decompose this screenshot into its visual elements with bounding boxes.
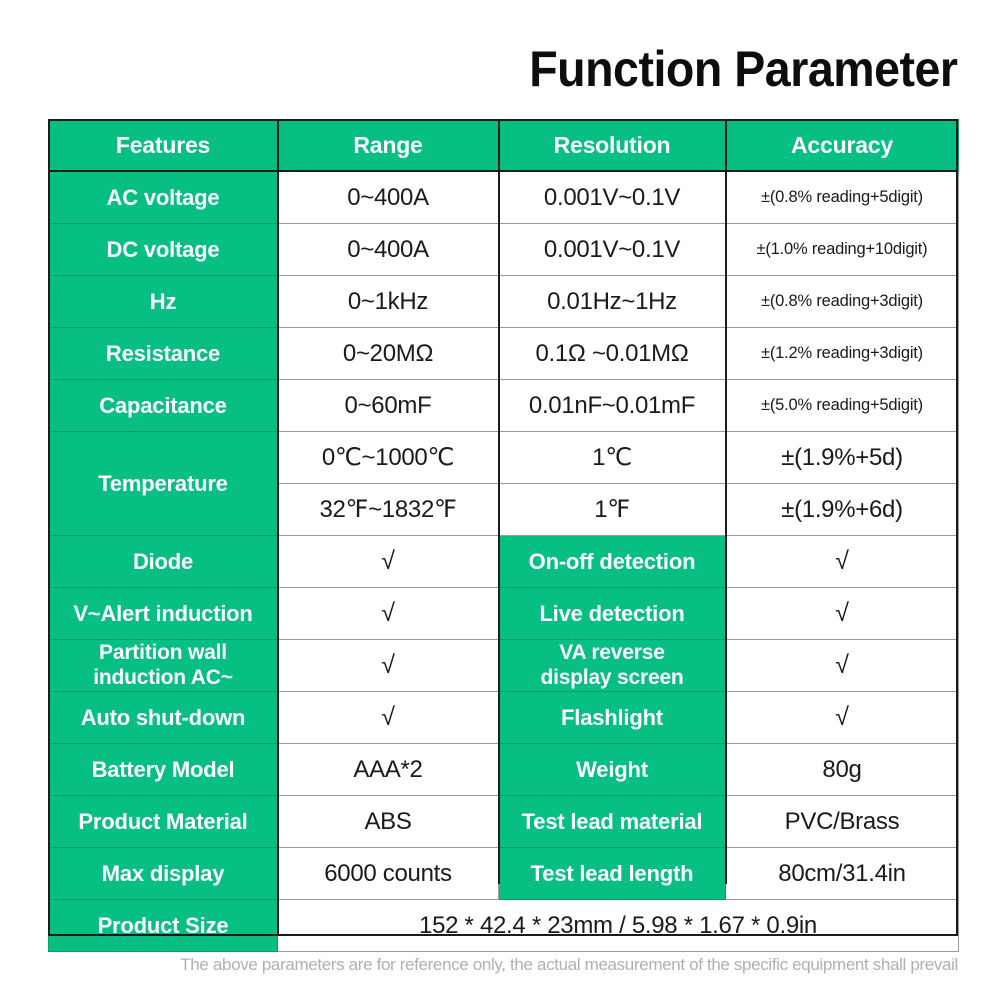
column-header-resolution: Resolution	[499, 120, 726, 172]
cell-accuracy-capacitance: ±(5.0% reading+5digit)	[726, 380, 959, 432]
table-row: Max display 6000 counts Test lead length…	[49, 848, 959, 900]
cell-value-product-material: ABS	[278, 796, 499, 848]
cell-value-on-off-detection: √	[726, 536, 959, 588]
table-row: Hz 0~1kHz 0.01Hz~1Hz ±(0.8% reading+3dig…	[49, 276, 959, 328]
column-header-accuracy: Accuracy	[726, 120, 959, 172]
cell-resolution-ac-voltage: 0.001V~0.1V	[499, 172, 726, 224]
row-label-battery-model: Battery Model	[49, 744, 278, 796]
row-label-flashlight: Flashlight	[499, 692, 726, 744]
row-label-test-lead-length: Test lead length	[499, 848, 726, 900]
table-row: V~Alert induction √ Live detection √	[49, 588, 959, 640]
page-title-container: Function Parameter	[0, 44, 958, 94]
row-label-weight: Weight	[499, 744, 726, 796]
table-row: Product Material ABS Test lead material …	[49, 796, 959, 848]
function-parameter-spec-sheet: Function Parameter Features Range Resolu…	[0, 0, 1000, 1000]
table-row: Diode √ On-off detection √	[49, 536, 959, 588]
cell-value-live-detection: √	[726, 588, 959, 640]
cell-accuracy-hz: ±(0.8% reading+3digit)	[726, 276, 959, 328]
cell-value-product-size: 152 * 42.4 * 23mm / 5.98 * 1.67 * 0.9in	[278, 900, 959, 952]
table-row: Partition wall induction AC~ √ VA revers…	[49, 640, 959, 692]
cell-accuracy-temperature-fahrenheit: ±(1.9%+6d)	[726, 484, 959, 536]
table-row: Capacitance 0~60mF 0.01nF~0.01mF ±(5.0% …	[49, 380, 959, 432]
row-label-temperature: Temperature	[49, 432, 278, 536]
cell-range-temperature-celsius: 0℃~1000℃	[278, 432, 499, 484]
row-label-diode: Diode	[49, 536, 278, 588]
cell-value-diode: √	[278, 536, 499, 588]
cell-range-hz: 0~1kHz	[278, 276, 499, 328]
row-label-resistance: Resistance	[49, 328, 278, 380]
cell-resolution-temperature-fahrenheit: 1℉	[499, 484, 726, 536]
cell-value-auto-shut-down: √	[278, 692, 499, 744]
table-row: AC voltage 0~400A 0.001V~0.1V ±(0.8% rea…	[49, 172, 959, 224]
specification-table: Features Range Resolution Accuracy AC vo…	[48, 119, 959, 952]
row-label-hz: Hz	[49, 276, 278, 328]
cell-accuracy-ac-voltage: ±(0.8% reading+5digit)	[726, 172, 959, 224]
row-label-v-alert-induction: V~Alert induction	[49, 588, 278, 640]
cell-resolution-dc-voltage: 0.001V~0.1V	[499, 224, 726, 276]
cell-value-flashlight: √	[726, 692, 959, 744]
cell-value-battery-model: AAA*2	[278, 744, 499, 796]
row-label-live-detection: Live detection	[499, 588, 726, 640]
cell-resolution-capacitance: 0.01nF~0.01mF	[499, 380, 726, 432]
column-header-range: Range	[278, 120, 499, 172]
row-label-on-off-detection: On-off detection	[499, 536, 726, 588]
cell-value-test-lead-length: 80cm/31.4in	[726, 848, 959, 900]
row-label-partition-wall-line1: Partition wall	[49, 641, 277, 666]
row-label-auto-shut-down: Auto shut-down	[49, 692, 278, 744]
cell-resolution-resistance: 0.1Ω ~0.01MΩ	[499, 328, 726, 380]
column-header-features: Features	[49, 120, 278, 172]
row-label-product-size: Product Size	[49, 900, 278, 952]
table-row-product-size: Product Size 152 * 42.4 * 23mm / 5.98 * …	[49, 900, 959, 952]
row-label-capacitance: Capacitance	[49, 380, 278, 432]
table-row-temperature-celsius: Temperature 0℃~1000℃ 1℃ ±(1.9%+5d)	[49, 432, 959, 484]
page-title: Function Parameter	[530, 44, 958, 94]
row-label-partition-wall-line2: induction AC~	[49, 666, 277, 691]
cell-value-weight: 80g	[726, 744, 959, 796]
cell-accuracy-dc-voltage: ±(1.0% reading+10digit)	[726, 224, 959, 276]
row-label-va-reverse-line2: display screen	[499, 666, 725, 691]
footnote-disclaimer: The above parameters are for reference o…	[0, 955, 958, 975]
cell-value-partition-wall-induction: √	[278, 640, 499, 692]
table-header-row: Features Range Resolution Accuracy	[49, 120, 959, 172]
cell-accuracy-resistance: ±(1.2% reading+3digit)	[726, 328, 959, 380]
row-label-dc-voltage: DC voltage	[49, 224, 278, 276]
cell-resolution-temperature-celsius: 1℃	[499, 432, 726, 484]
row-label-va-reverse-display-screen: VA reverse display screen	[499, 640, 726, 692]
cell-value-max-display: 6000 counts	[278, 848, 499, 900]
cell-value-test-lead-material: PVC/Brass	[726, 796, 959, 848]
row-label-product-material: Product Material	[49, 796, 278, 848]
cell-value-v-alert-induction: √	[278, 588, 499, 640]
row-label-max-display: Max display	[49, 848, 278, 900]
cell-range-dc-voltage: 0~400A	[278, 224, 499, 276]
table-row: DC voltage 0~400A 0.001V~0.1V ±(1.0% rea…	[49, 224, 959, 276]
cell-range-capacitance: 0~60mF	[278, 380, 499, 432]
table-row: Resistance 0~20MΩ 0.1Ω ~0.01MΩ ±(1.2% re…	[49, 328, 959, 380]
cell-range-ac-voltage: 0~400A	[278, 172, 499, 224]
cell-range-resistance: 0~20MΩ	[278, 328, 499, 380]
row-label-test-lead-material: Test lead material	[499, 796, 726, 848]
cell-value-va-reverse-display-screen: √	[726, 640, 959, 692]
cell-resolution-hz: 0.01Hz~1Hz	[499, 276, 726, 328]
table-row: Auto shut-down √ Flashlight √	[49, 692, 959, 744]
cell-range-temperature-fahrenheit: 32℉~1832℉	[278, 484, 499, 536]
row-label-va-reverse-line1: VA reverse	[499, 641, 725, 666]
cell-accuracy-temperature-celsius: ±(1.9%+5d)	[726, 432, 959, 484]
table-row: Battery Model AAA*2 Weight 80g	[49, 744, 959, 796]
row-label-partition-wall-induction: Partition wall induction AC~	[49, 640, 278, 692]
row-label-ac-voltage: AC voltage	[49, 172, 278, 224]
